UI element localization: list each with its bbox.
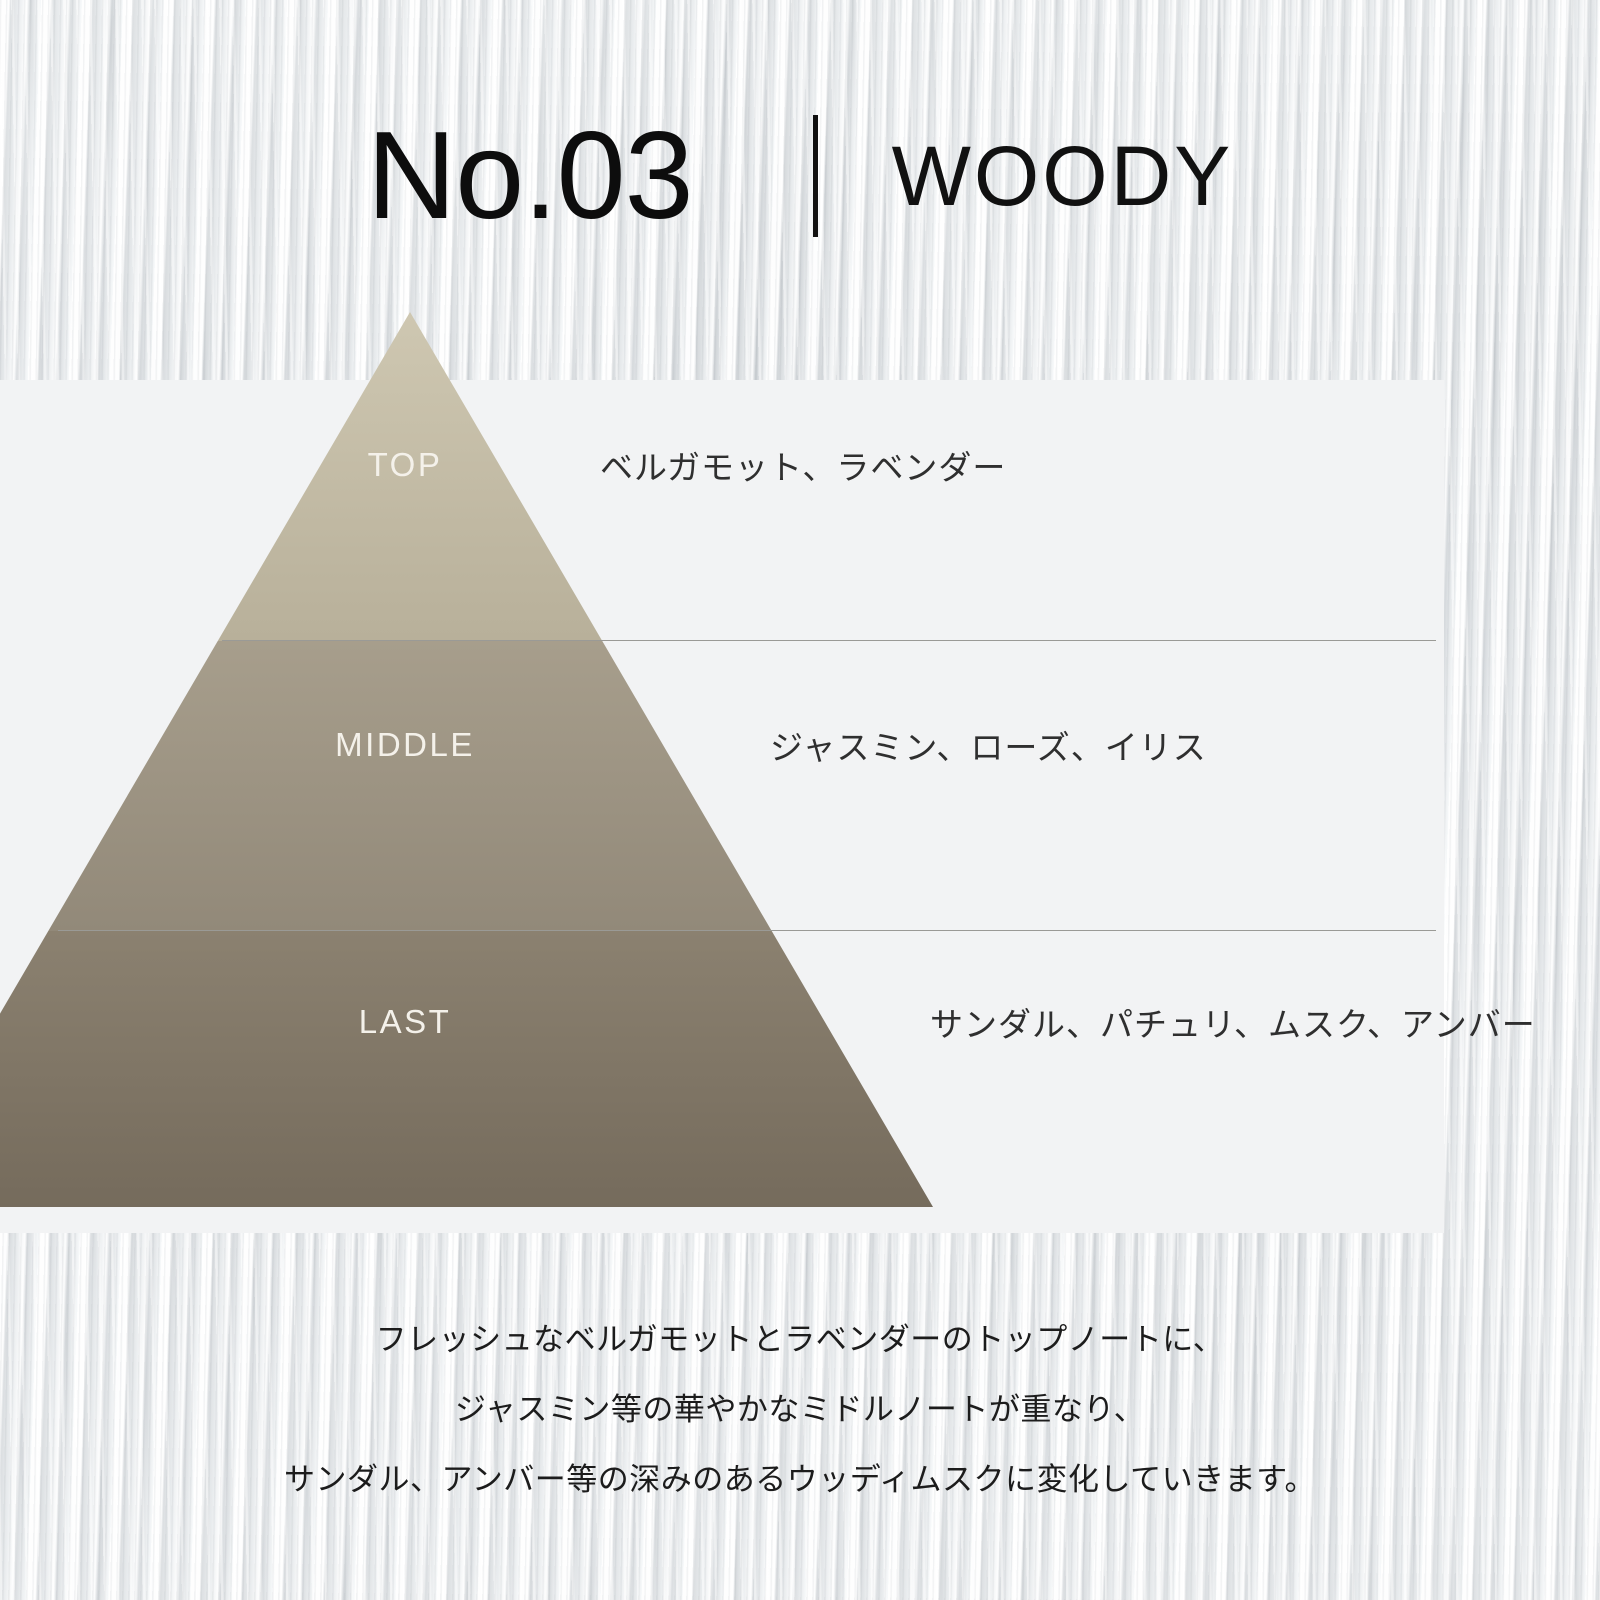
fragrance-category: WOODY xyxy=(892,134,1234,218)
stage-label-middle: MIDDLE xyxy=(300,726,510,764)
description-line-3: サンダル、アンバー等の深みのあるウッディムスクに変化していきます。 xyxy=(0,1445,1600,1515)
stage-label-top: TOP xyxy=(300,446,510,484)
fragrance-number: No.03 xyxy=(367,114,693,238)
description-line-2: ジャスミン等の華やかなミドルノートが重なり、 xyxy=(0,1375,1600,1445)
notes-panel-base xyxy=(0,1175,990,1233)
note-list-last: サンダル、パチュリ、ムスク、アンバー xyxy=(930,998,1536,1046)
note-list-top: ベルガモット、ラベンダー xyxy=(600,441,1006,489)
divider-top-middle xyxy=(222,640,1436,641)
note-list-middle: ジャスミン、ローズ、イリス xyxy=(770,721,1207,769)
page-title: No.03 WOODY xyxy=(0,96,1600,256)
notes-panel xyxy=(0,380,1444,1233)
description-block: フレッシュなベルガモットとラベンダーのトップノートに、 ジャスミン等の華やかなミ… xyxy=(0,1305,1600,1515)
description-line-1: フレッシュなベルガモットとラベンダーのトップノートに、 xyxy=(0,1305,1600,1375)
divider-middle-last xyxy=(58,930,1436,931)
title-divider-icon xyxy=(813,115,818,237)
fragrance-note-card: No.03 WOODY xyxy=(0,0,1600,1600)
stage-label-last: LAST xyxy=(300,1003,510,1041)
